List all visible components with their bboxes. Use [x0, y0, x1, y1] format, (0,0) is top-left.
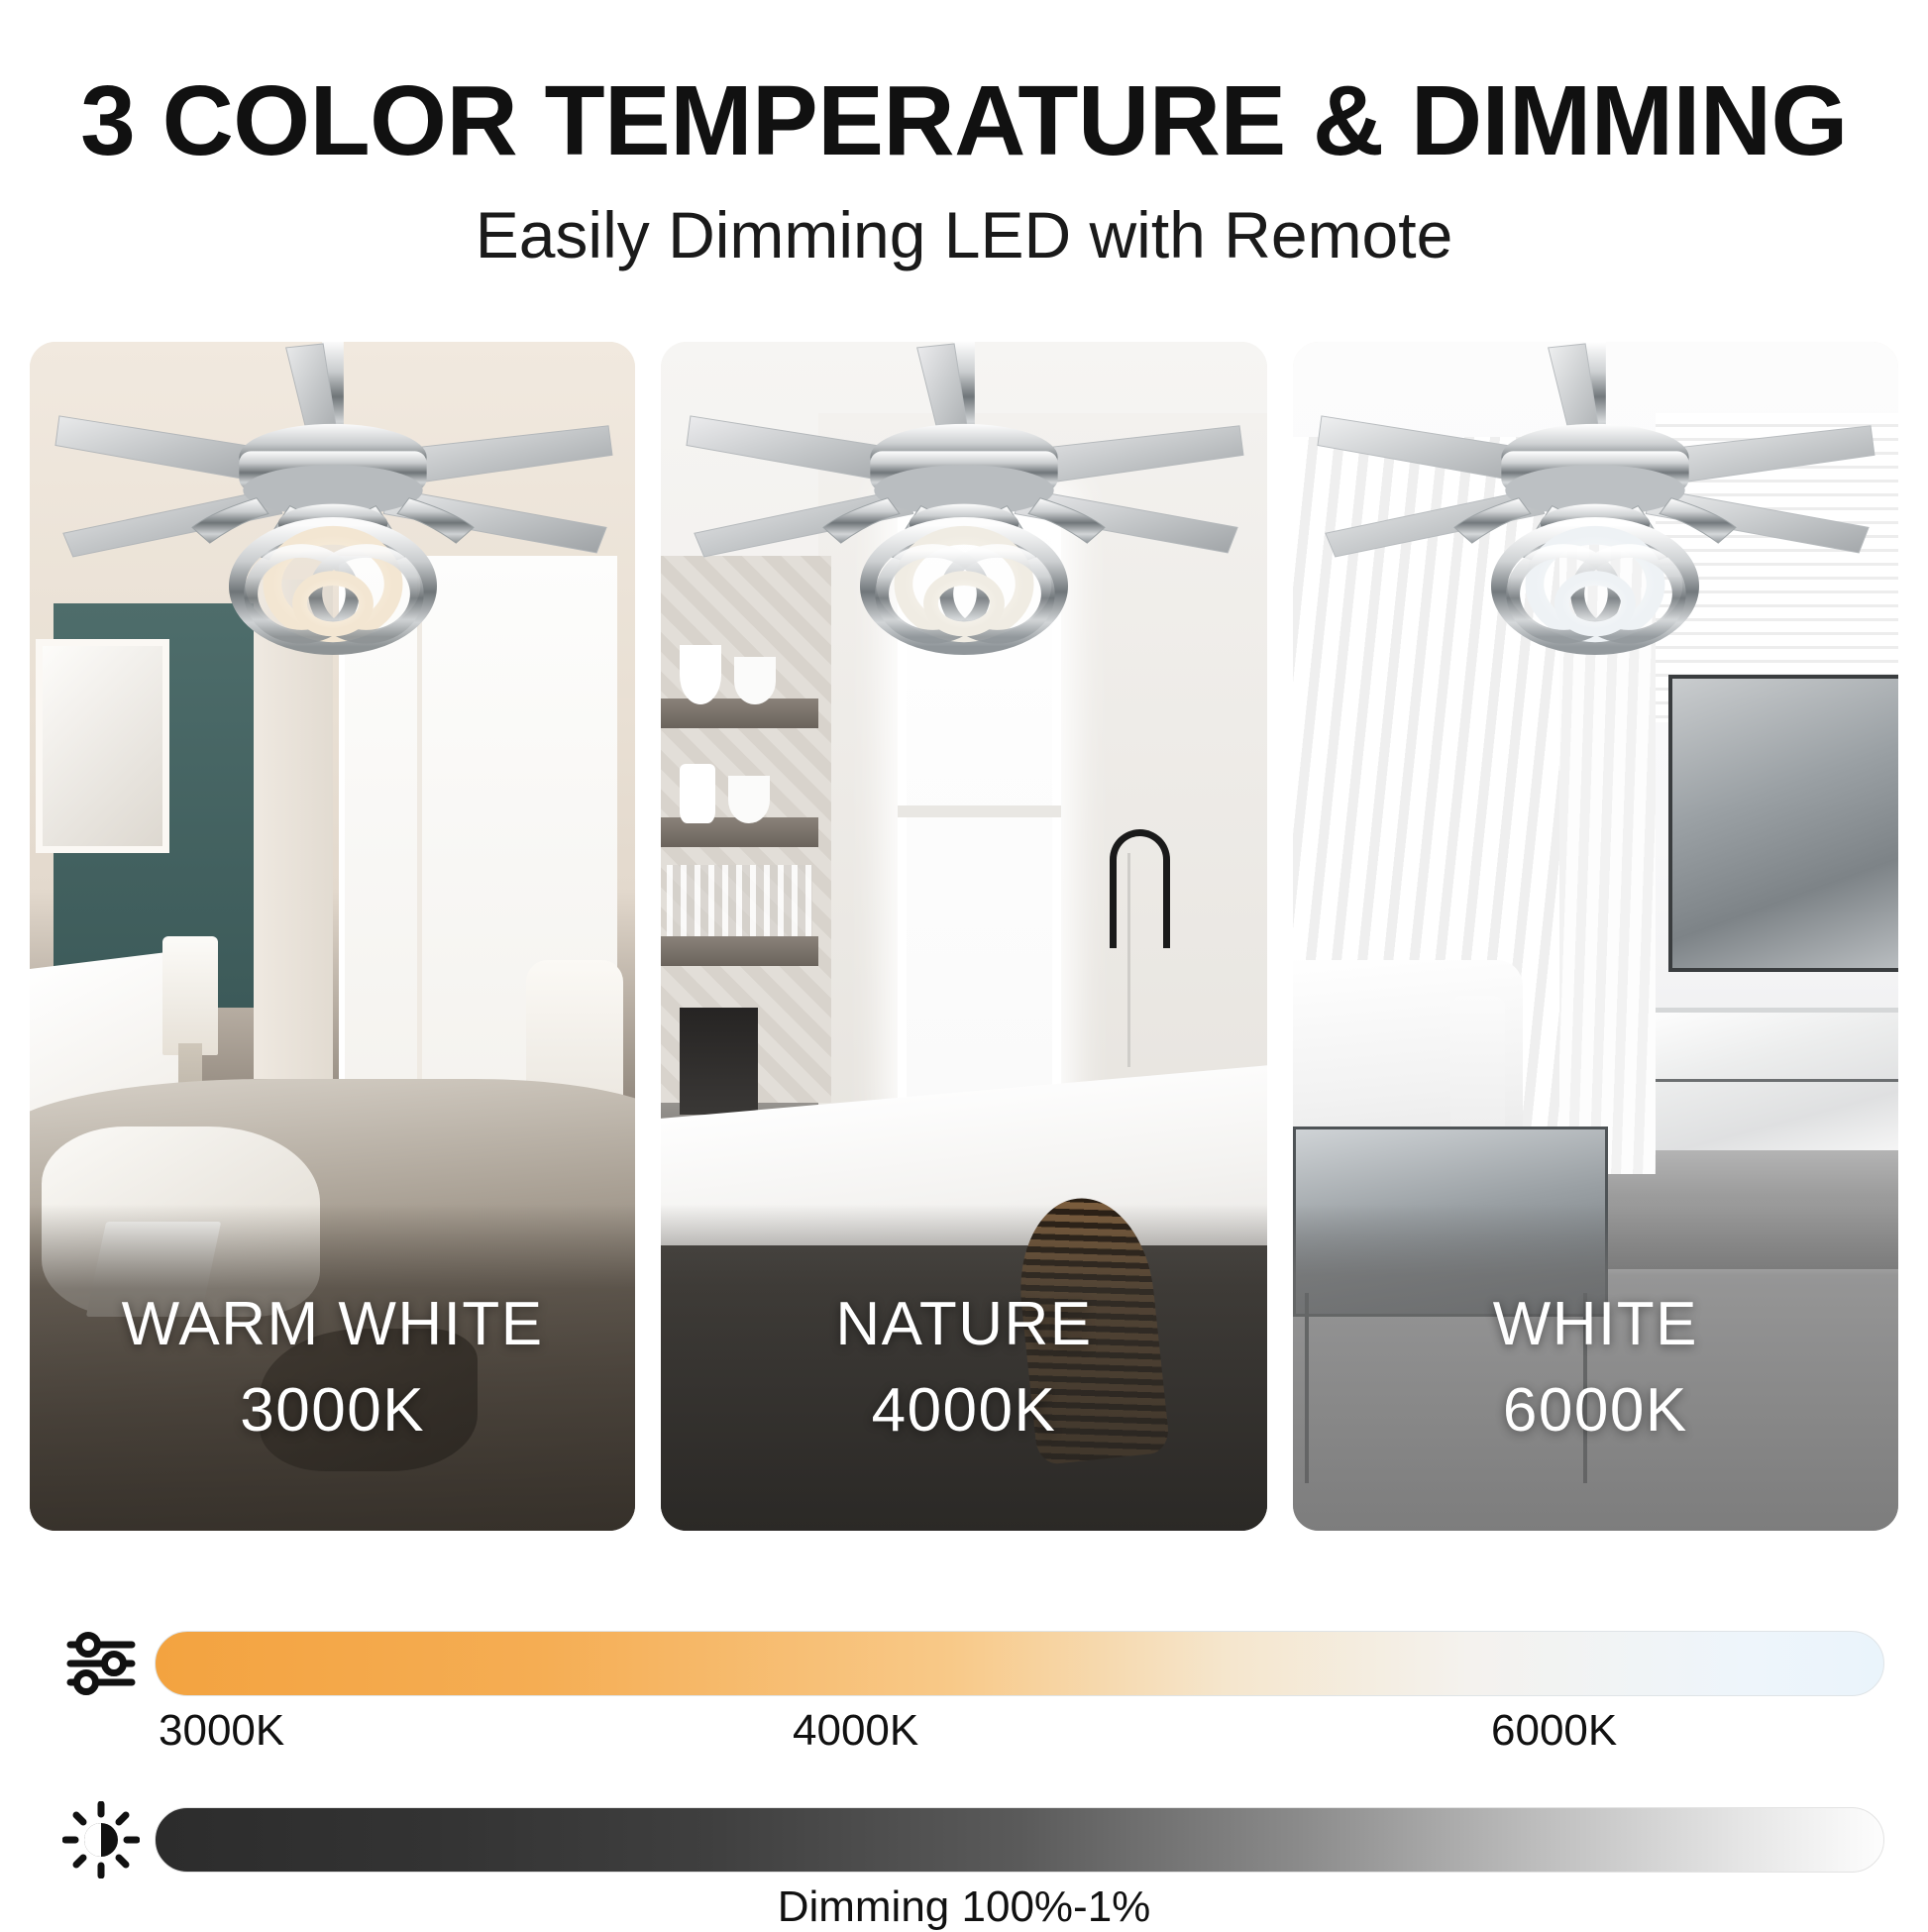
- panel-nature[interactable]: NATURE 4000K: [661, 342, 1266, 1531]
- window-sash: [898, 805, 1061, 817]
- panel-warm-white[interactable]: WARM WHITE 3000K: [30, 342, 635, 1531]
- sheer-curtain-right: [1559, 437, 1657, 1174]
- wine-glasses: [667, 865, 812, 942]
- color-temperature-ticks: 3000K 4000K 6000K: [159, 1706, 1863, 1766]
- panel-caption-warm-white: WARM WHITE 3000K: [30, 1204, 635, 1531]
- bowl: [728, 776, 771, 823]
- caption-temperature: 3000K: [240, 1374, 425, 1447]
- caption-temperature: 4000K: [872, 1374, 1057, 1447]
- tick-4000k: 4000K: [793, 1706, 918, 1756]
- wall-column: [254, 580, 332, 1079]
- wall-mirror: [36, 639, 168, 853]
- caption-name: NATURE: [835, 1288, 1092, 1360]
- page-title: 3 COLOR TEMPERATURE & DIMMING: [0, 69, 1928, 173]
- table-lamp-shade: [162, 936, 217, 1055]
- open-shelf-top: [661, 698, 818, 728]
- open-shelf-bottom: [661, 936, 818, 966]
- window-mullion: [417, 556, 422, 1127]
- header: 3 COLOR TEMPERATURE & DIMMING Easily Dim…: [0, 0, 1928, 271]
- caption-name: WARM WHITE: [122, 1288, 544, 1360]
- panel-caption-nature: NATURE 4000K: [661, 1204, 1266, 1531]
- color-temperature-slider-row[interactable]: [0, 1627, 1928, 1700]
- tick-6000k: 6000K: [1491, 1706, 1617, 1756]
- slider-section: 3000K 4000K 6000K Dimmi: [0, 1585, 1928, 1928]
- panel-caption-white: WHITE 6000K: [1293, 1204, 1898, 1531]
- brightness-icon: [48, 1801, 155, 1878]
- dimming-slider-row[interactable]: [0, 1801, 1928, 1878]
- dimming-label: Dimming 100%-1%: [0, 1882, 1928, 1932]
- panel-white[interactable]: WHITE 6000K: [1293, 342, 1898, 1531]
- bowl: [680, 764, 716, 823]
- faucet-hose: [1110, 829, 1170, 948]
- coffee-machine: [680, 1008, 758, 1115]
- page-subtitle: Easily Dimming LED with Remote: [0, 199, 1928, 271]
- scene-panels: WARM WHITE 3000K: [30, 342, 1898, 1531]
- bowl: [734, 657, 777, 704]
- tick-3000k: 3000K: [159, 1706, 284, 1756]
- faucet-body: [1127, 853, 1130, 1067]
- dimming-bar[interactable]: [155, 1807, 1884, 1873]
- color-temperature-bar[interactable]: [155, 1631, 1884, 1696]
- caption-name: WHITE: [1493, 1288, 1698, 1360]
- console-drawer-line: [1656, 1079, 1898, 1082]
- bowl: [680, 645, 722, 704]
- sliders-icon: [48, 1627, 155, 1700]
- caption-temperature: 6000K: [1503, 1374, 1688, 1447]
- wall-mounted-tv: [1668, 675, 1898, 972]
